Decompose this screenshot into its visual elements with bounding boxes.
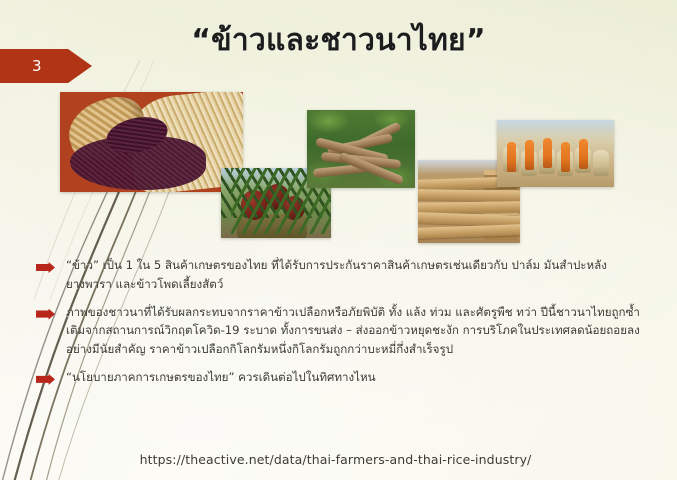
rubber-sheet xyxy=(418,189,520,202)
photo-cassava-content xyxy=(307,110,415,188)
list-item-text: “ข้าว” เป็น 1 ใน 5 สินค้าเกษตรของไทย ที่… xyxy=(66,256,648,294)
list-item: “นโยบายภาคการเกษตรของไทย” ควรเดินต่อไปใน… xyxy=(36,368,648,387)
background-wash-light xyxy=(0,0,677,480)
bullet-list: “ข้าว” เป็น 1 ใน 5 สินค้าเกษตรของไทย ที่… xyxy=(36,256,648,396)
source-url-link[interactable]: https://theactive.net/data/thai-farmers-… xyxy=(0,452,677,467)
photo-riceberry-content xyxy=(60,92,243,192)
corn-cob xyxy=(507,142,516,172)
photo-riceberry-rice-basket xyxy=(60,92,243,192)
list-item: “ข้าว” เป็น 1 ใน 5 สินค้าเกษตรของไทย ที่… xyxy=(36,256,648,294)
corn-cob xyxy=(579,139,588,169)
list-item-text: ภาพของชาวนาที่ได้รับผลกระทบจากราคาข้าวเป… xyxy=(66,303,648,359)
list-item: ภาพของชาวนาที่ได้รับผลกระทบจากราคาข้าวเป… xyxy=(36,303,648,359)
background-wash-tint xyxy=(0,0,677,480)
photo-dried-corn xyxy=(497,120,614,187)
arrow-bullet-icon xyxy=(36,262,55,273)
corn-cob xyxy=(525,140,534,170)
arrow-bullet-icon xyxy=(36,374,55,385)
corn-husk xyxy=(593,150,609,176)
photo-corn-content xyxy=(497,120,614,187)
list-item-text: “นโยบายภาคการเกษตรของไทย” ควรเดินต่อไปใน… xyxy=(66,368,648,387)
corn-cob xyxy=(561,142,570,172)
arrow-bullet-icon xyxy=(36,309,55,320)
page-title: “ข้าวและชาวนาไทย” xyxy=(0,22,677,60)
presentation-slide: 3 “ข้าวและชาวนาไทย” xyxy=(0,0,677,480)
photo-cassava-roots xyxy=(307,110,415,188)
corn-cob xyxy=(543,138,552,168)
